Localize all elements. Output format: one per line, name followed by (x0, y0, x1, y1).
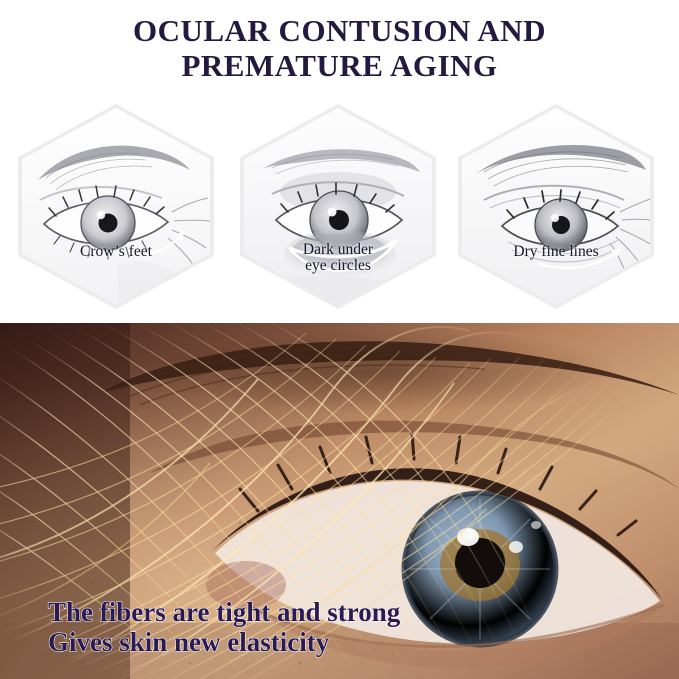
concern-card-crows-feet[interactable]: Crow’s feet (18, 104, 214, 309)
hero-caption-line-2: Gives skin new elasticity (48, 627, 400, 657)
hex-body: Dark under eye circles (244, 108, 432, 305)
hero-photo: The fibers are tight and strong Gives sk… (0, 323, 679, 679)
concern-card-dark-under-eye-circles[interactable]: Dark under eye circles (240, 104, 436, 309)
title-line-2: PREMATURE AGING (0, 49, 679, 84)
dark-under-eye-circles-illustration (244, 108, 432, 305)
hero-caption: The fibers are tight and strong Gives sk… (48, 597, 400, 657)
concern-label: Crow’s feet (22, 244, 210, 261)
page-title: OCULAR CONTUSION AND PREMATURE AGING (0, 14, 679, 83)
concern-label-line-1: Crow’s feet (80, 243, 152, 260)
hero-caption-line-1: The fibers are tight and strong (48, 597, 400, 627)
hex-body: Dry fine lines (462, 108, 650, 305)
concerns-row: Crow’s feet (0, 104, 679, 309)
hex-body: Crow’s feet (22, 108, 210, 305)
crows-feet-eye-illustration (22, 108, 210, 305)
dry-fine-lines-eye-illustration (462, 108, 650, 305)
concern-label: Dry fine lines (462, 244, 650, 261)
concern-card-dry-fine-lines[interactable]: Dry fine lines (458, 104, 654, 309)
concern-label-line-1: Dark under (244, 242, 432, 259)
title-line-1: OCULAR CONTUSION AND (0, 14, 679, 49)
concern-label-line-1: Dry fine lines (513, 243, 598, 260)
infographic-page: OCULAR CONTUSION AND PREMATURE AGING (0, 0, 679, 679)
